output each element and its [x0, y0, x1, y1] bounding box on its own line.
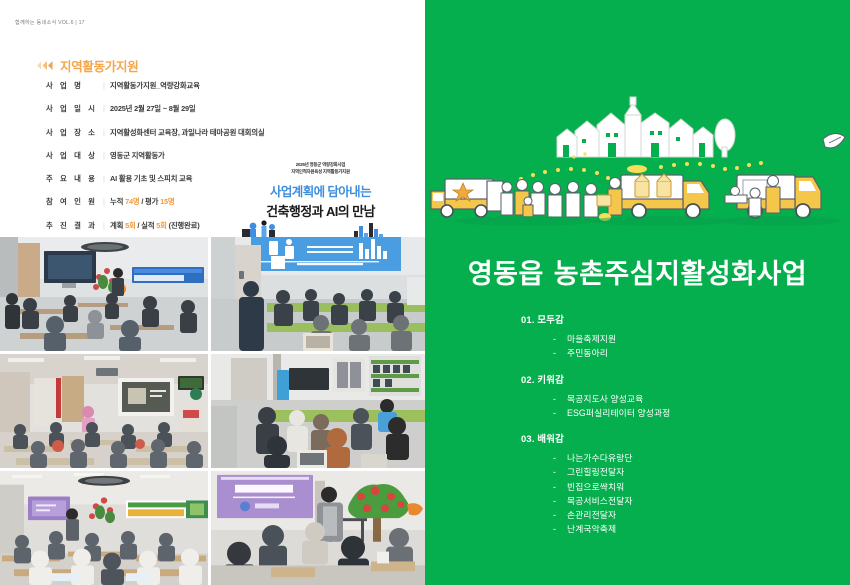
info-value: AI 활용 기초 및 스피치 교육 — [110, 173, 192, 184]
info-label: 사 업 명 — [46, 80, 98, 91]
program-group-1: 01. 모두감 - 마을축제지원 - 주민동아리 — [425, 305, 850, 361]
right-page: 영동읍 농촌주심지활성화사업 01. 모두감 - 마을축제지원 - 주민동아리 … — [425, 0, 850, 585]
photo-classroom-training — [0, 471, 208, 585]
program-group-3: 03. 배워감 - 나는가수다유랑단 - 그린힐링전달자 - 빈집으로쌱치워 -… — [425, 424, 850, 537]
dash-marker: - — [553, 451, 560, 465]
info-separator: | — [98, 221, 110, 230]
info-label: 사 업 일 시 — [46, 103, 98, 114]
photo-office-presentation — [211, 237, 425, 351]
poster-headline-1: 사업계획에 담아내는 — [228, 181, 413, 200]
photo-lecture-hall-screen — [0, 237, 208, 351]
dash-marker: - — [553, 406, 560, 420]
left-page: 함께하는 동네소식 VOL.6 | 17 지역활동가지원 사 업 명 | 지역활… — [0, 0, 425, 585]
folio-header: 함께하는 동네소식 VOL.6 | 17 — [15, 19, 85, 26]
program-item: - 목공지도사 양성교육 — [553, 392, 850, 406]
program-item-label: 난계국악축제 — [567, 522, 616, 536]
info-separator: | — [98, 81, 110, 90]
info-value: 지역활성화센터 교육장, 과일나라 테마공원 대회의실 — [110, 127, 264, 138]
program-item-label: ESG퍼실리테이터 양성과정 — [567, 406, 670, 420]
section-title: 지역활동가지원 — [60, 56, 138, 75]
info-row: 사 업 장 소 | 지역활성화센터 교육장, 과일나라 테마공원 대회의실 — [46, 127, 376, 150]
poster-subtitle-line-1: 2025년 영동군 역량강화사업 — [228, 162, 413, 169]
page-title: 영동읍 농촌주심지활성화사업 — [425, 252, 850, 291]
program-item: - 난계국악축제 — [553, 522, 850, 536]
program-item-label: 목공지도사 양성교육 — [567, 392, 643, 406]
dash-marker: - — [553, 522, 560, 536]
info-value: 계획 5회 / 실적 5회 (진행완료) — [110, 220, 200, 231]
program-item: - 손관리전달자 — [553, 508, 850, 522]
event-poster: 2025년 영동군 역량강화사업 지역인적자원육성 지역활동가지원 사업계획에 … — [228, 153, 413, 243]
result-middle: / 실적 — [136, 221, 157, 230]
photo-auditorium-projector — [0, 354, 208, 468]
info-label: 주 요 내 용 — [46, 173, 98, 184]
info-separator: | — [98, 151, 110, 160]
program-item: - 그린힐링전달자 — [553, 465, 850, 479]
info-separator: | — [98, 197, 110, 206]
info-label: 사 업 장 소 — [46, 127, 98, 138]
poster-subtitle-line-2: 지역인적자원육성 지역활동가지원 — [228, 169, 413, 176]
info-value: 2025년 2월 27일 ~ 8월 29일 — [110, 103, 195, 114]
info-separator: | — [98, 174, 110, 183]
dash-marker: - — [553, 508, 560, 522]
dash-marker: - — [553, 346, 560, 360]
program-item-label: 손관리전달자 — [567, 508, 616, 522]
village-and-trucks-illustration — [425, 95, 850, 245]
photo-grid — [0, 237, 425, 585]
participants-middle: / 평가 — [139, 197, 160, 206]
participants-count-cumulative: 74명 — [125, 197, 139, 206]
info-row: 사 업 명 | 지역활동가지원_역량강화교육 — [46, 80, 376, 103]
program-heading: 01. 모두감 — [521, 305, 850, 332]
program-item-label: 나는가수다유랑단 — [567, 451, 633, 465]
info-separator: | — [98, 128, 110, 137]
dash-marker: - — [553, 494, 560, 508]
photo-laptop-workshop — [211, 354, 425, 468]
info-value: 지역활동가지원_역량강화교육 — [110, 80, 200, 91]
result-suffix: (진행완료) — [167, 221, 200, 230]
participants-prefix: 누적 — [110, 197, 125, 206]
program-item: - ESG퍼실리테이터 양성과정 — [553, 406, 850, 420]
poster-subtitle: 2025년 영동군 역량강화사업 지역인적자원육성 지역활동가지원 — [228, 153, 413, 175]
section-header: 지역활동가지원 — [36, 56, 138, 75]
dash-marker: - — [553, 392, 560, 406]
info-value: 누적 74명 / 평가 15명 — [110, 196, 175, 207]
result-planned-count: 5회 — [125, 221, 136, 230]
info-value: 영동군 지역활동가 — [110, 150, 165, 161]
photo-document-seminar — [211, 471, 425, 585]
program-item: - 주민동아리 — [553, 346, 850, 360]
result-prefix: 계획 — [110, 221, 125, 230]
info-label: 추 진 결 과 — [46, 220, 98, 231]
program-heading: 02. 키워감 — [521, 365, 850, 392]
dash-marker: - — [553, 465, 560, 479]
program-item-label: 주민동아리 — [567, 346, 608, 360]
dash-marker: - — [553, 480, 560, 494]
program-list: 01. 모두감 - 마을축제지원 - 주민동아리 02. 키워감 - 목공지도사… — [425, 305, 850, 541]
program-group-2: 02. 키워감 - 목공지도사 양성교육 - ESG퍼실리테이터 양성과정 — [425, 365, 850, 421]
dash-marker: - — [553, 332, 560, 346]
double-chevron-icon — [36, 60, 53, 71]
program-item: - 마을축제지원 — [553, 332, 850, 346]
program-item-label: 그린힐링전달자 — [567, 465, 624, 479]
program-heading: 03. 배워감 — [521, 424, 850, 451]
program-item-label: 목공서비스전달자 — [567, 494, 633, 508]
info-separator: | — [98, 104, 110, 113]
participants-count-evaluation: 15명 — [160, 197, 174, 206]
program-item: - 나는가수다유랑단 — [553, 451, 850, 465]
info-row: 사 업 일 시 | 2025년 2월 27일 ~ 8월 29일 — [46, 103, 376, 126]
info-label: 사 업 대 상 — [46, 150, 98, 161]
result-actual-count: 5회 — [156, 221, 167, 230]
magazine-spread: 함께하는 동네소식 VOL.6 | 17 지역활동가지원 사 업 명 | 지역활… — [0, 0, 850, 585]
program-item: - 빈집으로쌱치워 — [553, 480, 850, 494]
program-item: - 목공서비스전달자 — [553, 494, 850, 508]
program-item-label: 빈집으로쌱치워 — [567, 480, 624, 494]
program-item-label: 마을축제지원 — [567, 332, 616, 346]
info-label: 참 여 인 원 — [46, 196, 98, 207]
